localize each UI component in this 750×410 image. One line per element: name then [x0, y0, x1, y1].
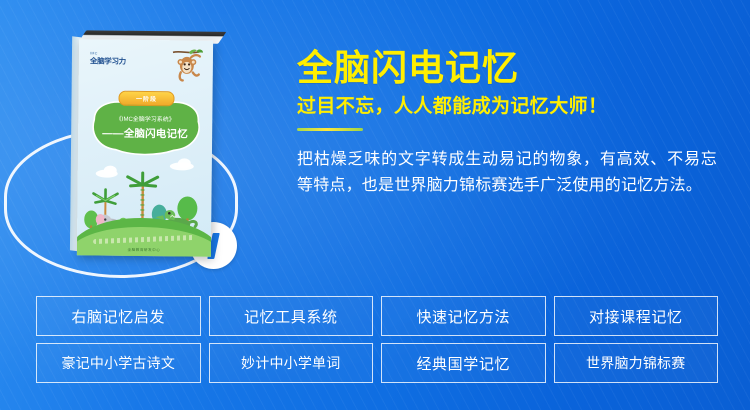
- feature-tag-grid: 右脑记忆启发 记忆工具系统 快速记忆方法 对接课程记忆 豪记中小学古诗文 妙计中…: [36, 296, 718, 383]
- box-scenery: 全脑教育研发中心: [77, 169, 212, 256]
- box-series-title: 《IMC全脑学习系统》: [86, 113, 204, 123]
- feature-tag[interactable]: 快速记忆方法: [381, 296, 546, 336]
- product-image-area: IMC 全脑学习力: [0, 0, 290, 295]
- box-brand-logo: IMC 全脑学习力: [90, 52, 142, 65]
- accent-rule: [297, 128, 363, 131]
- feature-tag[interactable]: 右脑记忆启发: [36, 296, 201, 336]
- box-front-cover: IMC 全脑学习力: [77, 39, 213, 256]
- product-box: IMC 全脑学习力: [77, 39, 213, 256]
- box-logo-line2: 全脑学习力: [90, 57, 142, 65]
- feature-tag[interactable]: 世界脑力锦标赛: [554, 343, 719, 383]
- cloud-icon: [178, 158, 191, 168]
- feature-tag[interactable]: 对接课程记忆: [554, 296, 719, 336]
- feature-tag[interactable]: 记忆工具系统: [209, 296, 374, 336]
- promo-banner: IMC 全脑学习力: [0, 0, 750, 410]
- feature-tag[interactable]: 妙计中小学单词: [209, 343, 374, 383]
- box-product-title: ——全脑闪电记忆: [86, 125, 204, 141]
- monkey-mascot-icon: [167, 48, 207, 82]
- feature-tag[interactable]: 豪记中小学古诗文: [36, 343, 201, 383]
- stage-ribbon-label: 一阶段: [136, 94, 157, 103]
- box-title-blob: 一阶段 《IMC全脑学习系统》 ——全脑闪电记忆: [86, 95, 205, 158]
- feature-tag[interactable]: 经典国学记忆: [381, 343, 546, 383]
- stage-ribbon: 一阶段: [118, 91, 174, 107]
- description-text: 把枯燥乏味的文字转成生动易记的物象，有高效、不易忘等特点，也是世界脑力锦标赛选手…: [297, 147, 717, 199]
- main-title: 全脑闪电记忆: [297, 50, 742, 86]
- subtitle: 过目不忘，人人都能成为记忆大师！: [297, 97, 742, 116]
- headline-block: 全脑闪电记忆 过目不忘，人人都能成为记忆大师！ 把枯燥乏味的文字转成生动易记的物…: [297, 50, 742, 199]
